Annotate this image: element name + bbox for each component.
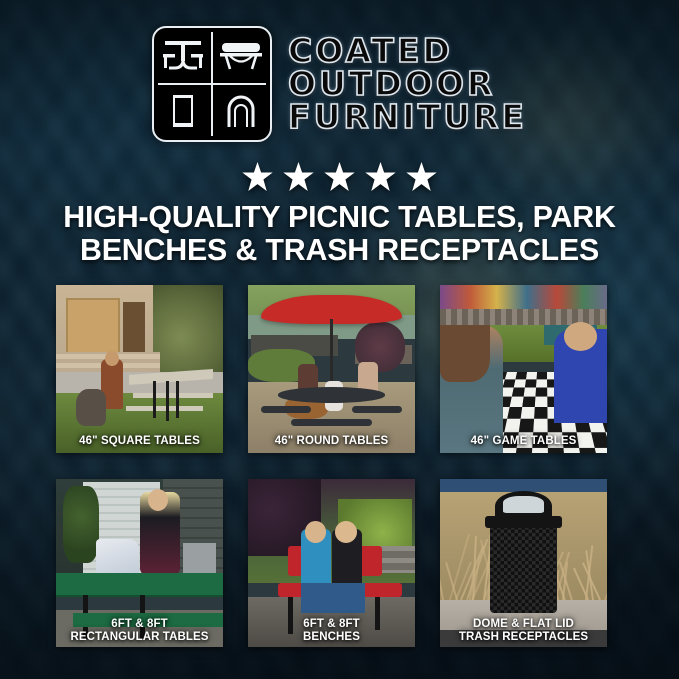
product-caption-square-tables: 46" SQUARE TABLES: [56, 435, 223, 447]
star-icon: [323, 160, 356, 193]
caption-line-1: DOME & FLAT LID: [443, 618, 604, 630]
product-poster: COATED OUTDOOR FURNITURE HIGH-QUALITY PI…: [0, 0, 679, 679]
wordmark-line-1: COATED: [288, 35, 527, 67]
product-tile-round-tables[interactable]: 46" ROUND TABLES: [248, 285, 415, 453]
brand-logo: COATED OUTDOOR FURNITURE: [0, 24, 679, 144]
headline-line-2: BENCHES & TRASH RECEPTACLES: [34, 233, 645, 266]
logo-mark: [152, 26, 272, 142]
product-photo-square-tables: [56, 285, 223, 453]
product-tile-trash-receptacles[interactable]: DOME & FLAT LID TRASH RECEPTACLES: [440, 479, 607, 647]
product-caption-round-tables: 46" ROUND TABLES: [248, 435, 415, 447]
caption-line-1: 6FT & 8FT: [251, 618, 412, 630]
page-title: HIGH-QUALITY PICNIC TABLES, PARK BENCHES…: [28, 200, 651, 267]
wordmark-line-3: FURNITURE: [288, 101, 527, 133]
product-tile-square-tables[interactable]: 46" SQUARE TABLES: [56, 285, 223, 453]
park-bench-icon: [212, 28, 270, 84]
headline-line-1: HIGH-QUALITY PICNIC TABLES, PARK: [34, 200, 645, 233]
product-photo-game-tables: [440, 285, 607, 453]
star-icon: [405, 160, 438, 193]
caption-line-2: BENCHES: [251, 631, 412, 643]
caption-line-2: TRASH RECEPTACLES: [443, 631, 604, 643]
product-grid: 46" SQUARE TABLES 46" ROUND TAB: [56, 285, 623, 647]
star-rating: [0, 158, 679, 194]
product-caption-rectangular-tables: 6FT & 8FT RECTANGULAR TABLES: [56, 618, 223, 643]
product-tile-rectangular-tables[interactable]: 6FT & 8FT RECTANGULAR TABLES: [56, 479, 223, 647]
bike-rack-icon: [212, 84, 270, 140]
picnic-table-icon: [154, 28, 212, 84]
wordmark-line-2: OUTDOOR: [288, 68, 527, 100]
caption-line-2: RECTANGULAR TABLES: [59, 631, 220, 643]
trash-receptacle-icon: [154, 84, 212, 140]
product-photo-round-tables: [248, 285, 415, 453]
star-icon: [241, 160, 274, 193]
brand-wordmark: COATED OUTDOOR FURNITURE: [288, 35, 527, 134]
product-tile-benches[interactable]: 6FT & 8FT BENCHES: [248, 479, 415, 647]
product-caption-trash-receptacles: DOME & FLAT LID TRASH RECEPTACLES: [440, 618, 607, 643]
star-icon: [364, 160, 397, 193]
product-caption-game-tables: 46" GAME TABLES: [440, 435, 607, 447]
product-tile-game-tables[interactable]: 46" GAME TABLES: [440, 285, 607, 453]
caption-line-1: 6FT & 8FT: [59, 618, 220, 630]
star-icon: [282, 160, 315, 193]
product-caption-benches: 6FT & 8FT BENCHES: [248, 618, 415, 643]
